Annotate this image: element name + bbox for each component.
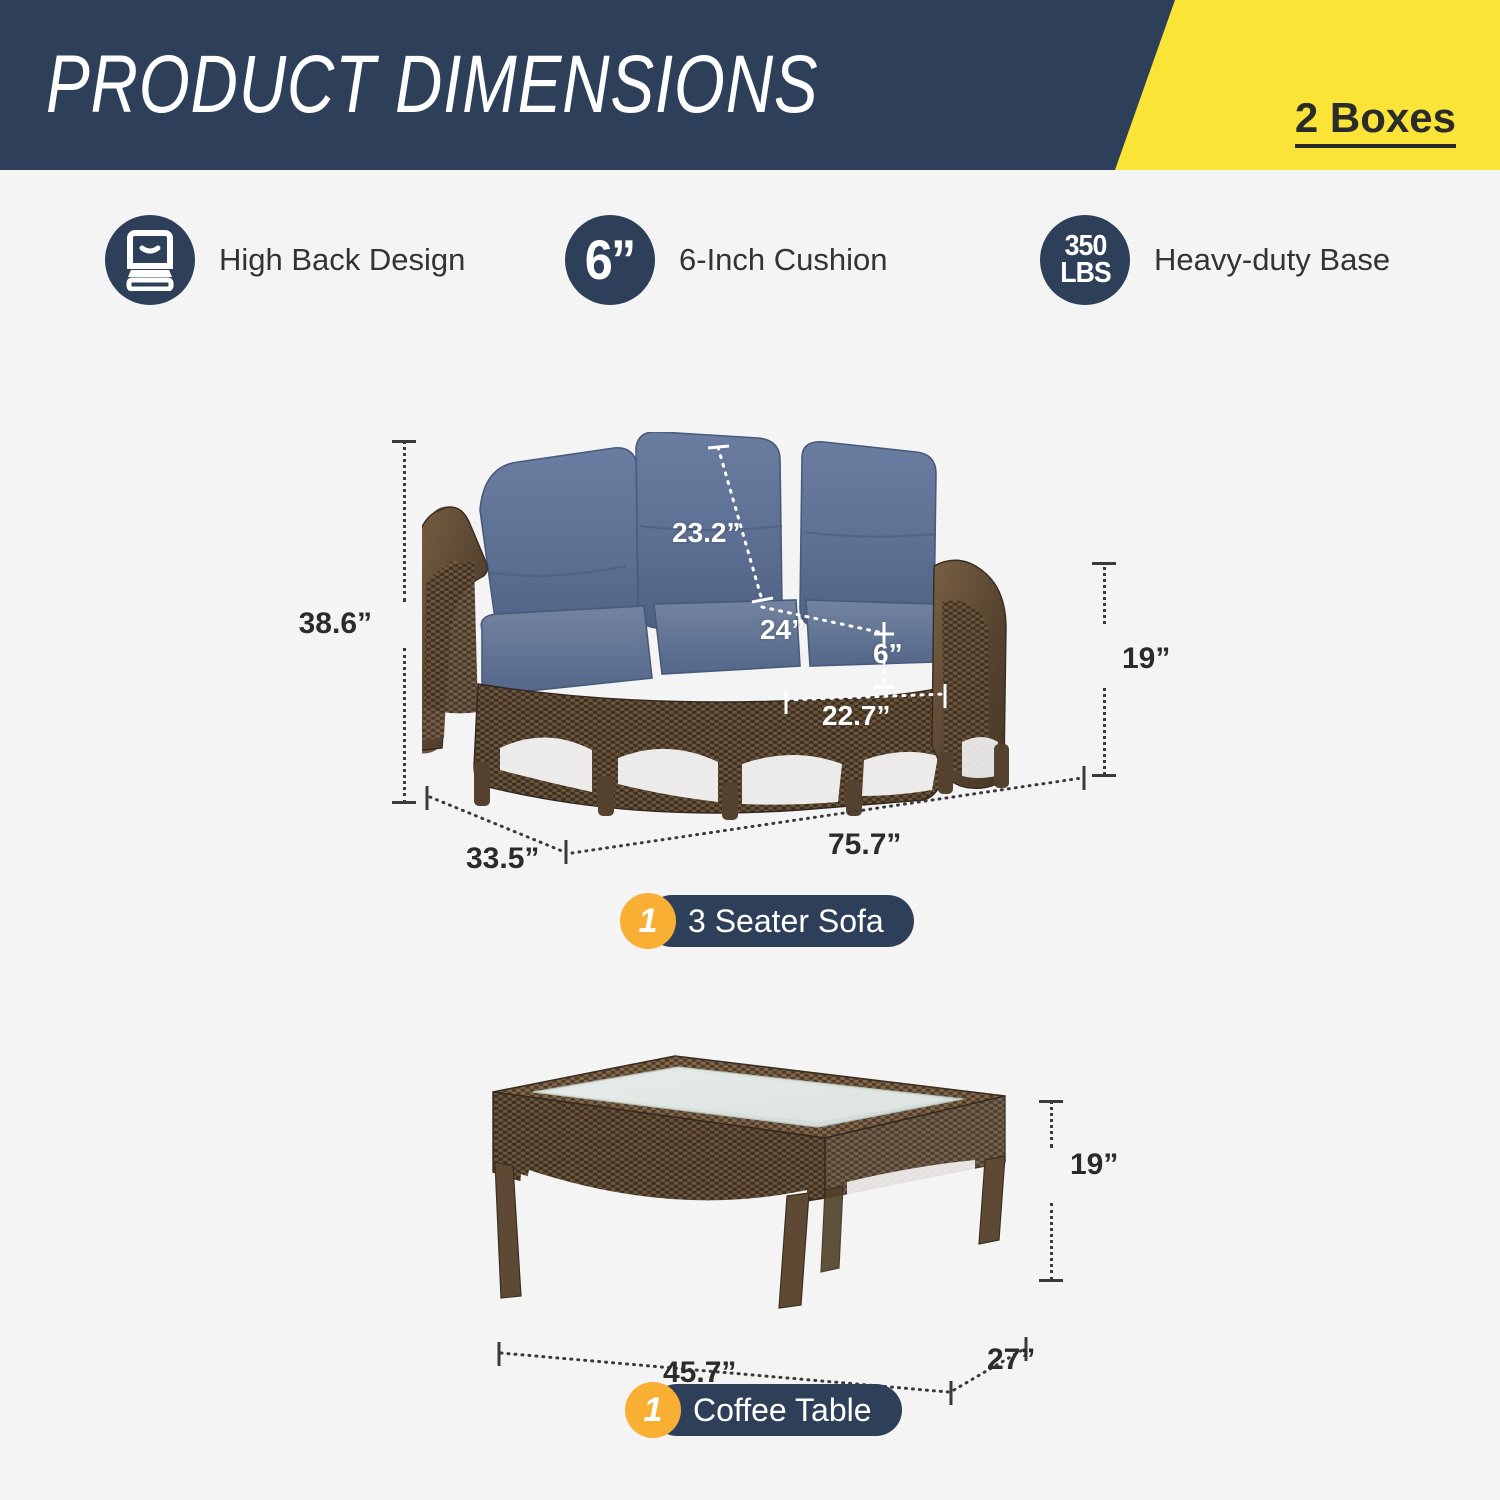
coffee-table-product-section: 19” 45.7” 27” 1 Coffee Table [0,0,1500,1500]
sofa-part-name: 3 Seater Sofa [646,895,914,947]
table-part-name: Coffee Table [651,1384,902,1436]
sofa-part-badge: 1 3 Seater Sofa [620,893,914,949]
table-depth-label: 27” [987,1343,1035,1377]
table-perspective-dimension-lines [0,0,1500,1500]
table-part-number: 1 [625,1382,681,1438]
sofa-part-number: 1 [620,893,676,949]
table-part-badge: 1 Coffee Table [625,1382,902,1438]
